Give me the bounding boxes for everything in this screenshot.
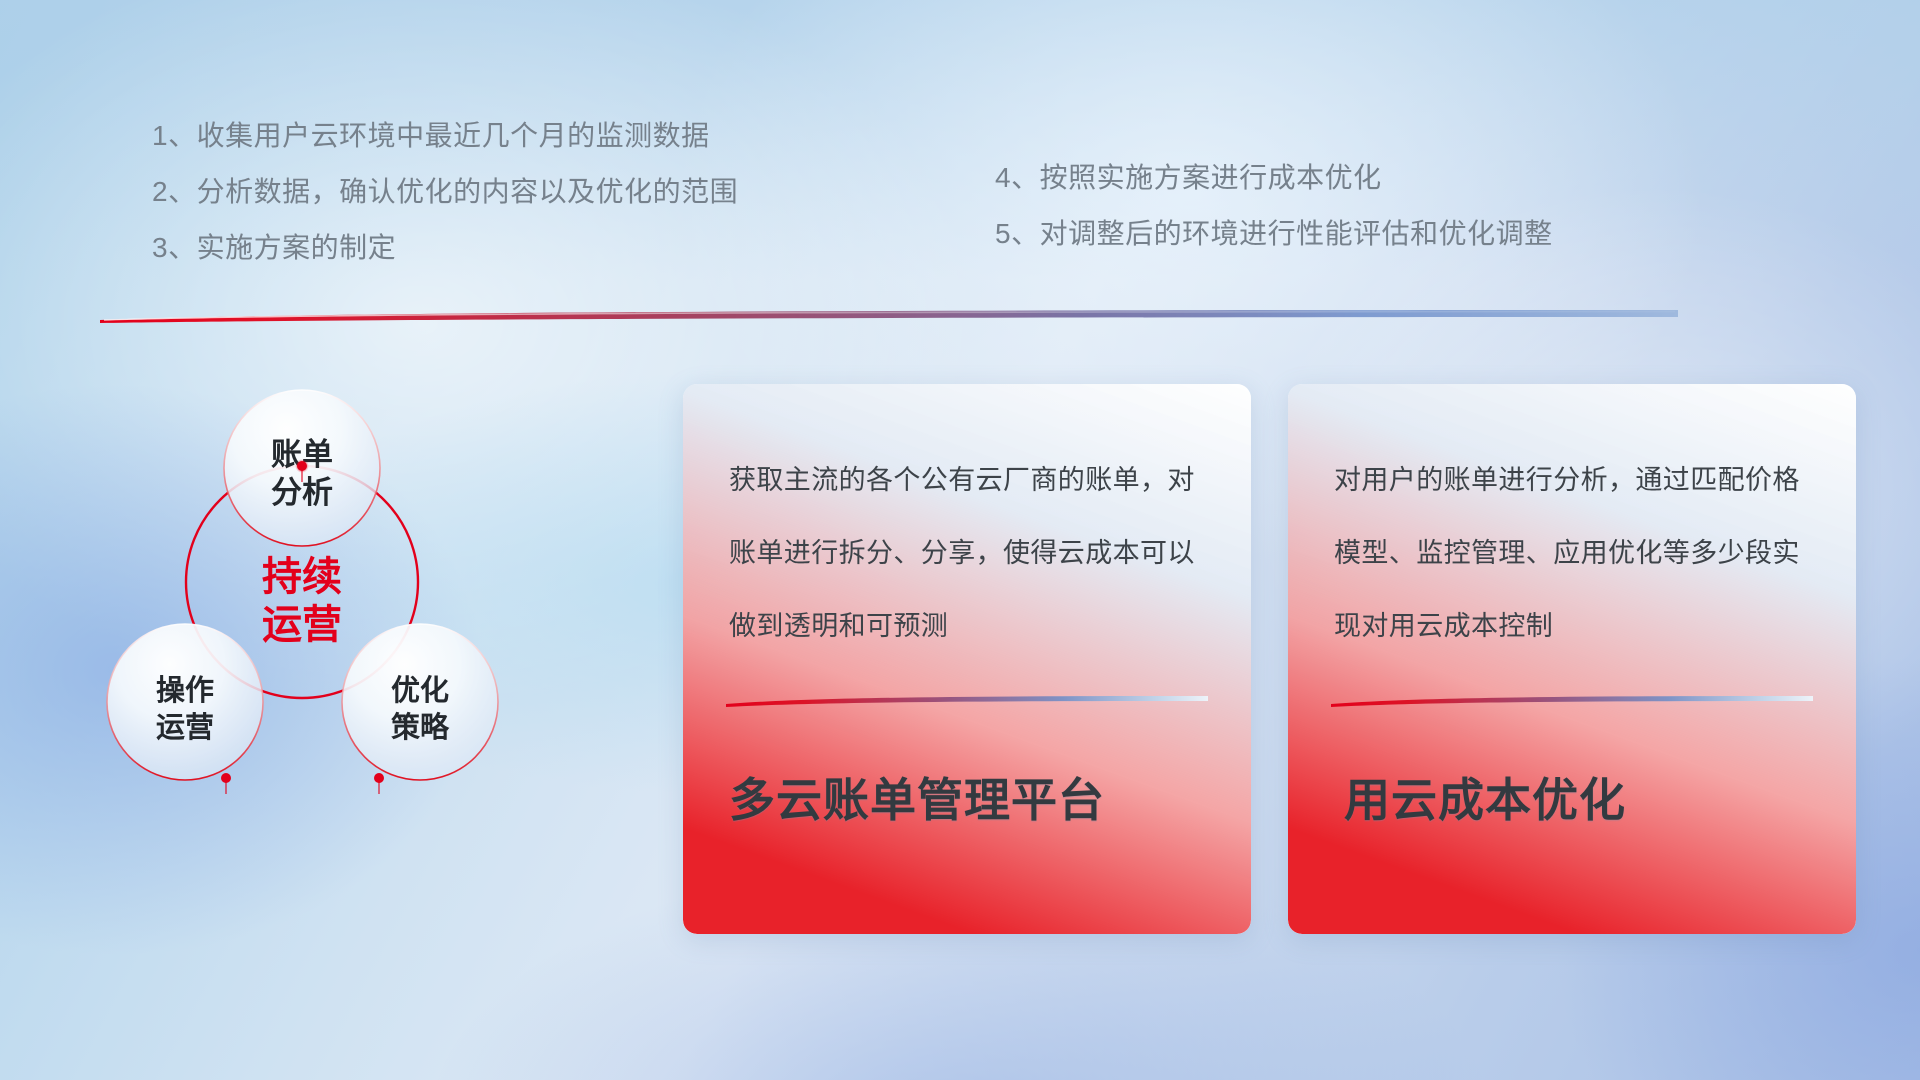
steps-column-left: 1、收集用户云环境中最近几个月的监测数据 2、分析数据，确认优化的内容以及优化的… [152,108,738,276]
step-item-3: 3、实施方案的制定 [152,220,738,276]
venn-circle-operations[interactable]: 操作 运营 [107,624,263,780]
venn-label-operations-line1: 操作 [156,674,214,707]
venn-dot-bottom-left [221,773,231,783]
venn-center-label-line2: 运营 [262,603,342,647]
venn-dot-bottom-right [374,773,384,783]
venn-center-label-line1: 持续 [262,555,342,599]
venn-circle-optimization[interactable]: 优化 策略 [342,624,498,780]
step-item-5: 5、对调整后的环境进行性能评估和优化调整 [995,206,1553,262]
venn-dot-top [297,461,307,471]
venn-diagram: 账单 分析 操作 运营 优化 策略 持续 运营 [90,350,560,820]
card-title: 用云成本优化 [1344,764,1826,830]
step-item-4: 4、按照实施方案进行成本优化 [995,150,1553,206]
card-body-text: 获取主流的各个公有云厂商的账单，对账单进行拆分、分享，使得云成本可以做到透明和可… [729,444,1215,663]
venn-center-label: 持续 运营 [262,555,342,647]
feature-card-cloud-cost-optimization[interactable]: 对用户的账单进行分析，通过匹配价格模型、监控管理、应用优化等多少段实现对用云成本… [1288,384,1856,934]
venn-label-operations-line2: 运营 [156,711,214,744]
card-title: 多云账单管理平台 [729,764,1221,830]
step-item-2: 2、分析数据，确认优化的内容以及优化的范围 [152,164,738,220]
steps-column-right: 4、按照实施方案进行成本优化 5、对调整后的环境进行性能评估和优化调整 [995,150,1553,262]
venn-label-optimization-line1: 优化 [391,674,449,707]
card-body-text: 对用户的账单进行分析，通过匹配价格模型、监控管理、应用优化等多少段实现对用云成本… [1334,444,1820,663]
card-accent-rule [1331,696,1813,707]
step-item-1: 1、收集用户云环境中最近几个月的监测数据 [152,108,738,164]
feature-card-multi-cloud-billing-platform[interactable]: 获取主流的各个公有云厂商的账单，对账单进行拆分、分享，使得云成本可以做到透明和可… [683,384,1251,934]
venn-label-optimization-line2: 策略 [391,710,450,744]
card-accent-rule [726,696,1208,707]
section-divider-line [100,310,1678,324]
